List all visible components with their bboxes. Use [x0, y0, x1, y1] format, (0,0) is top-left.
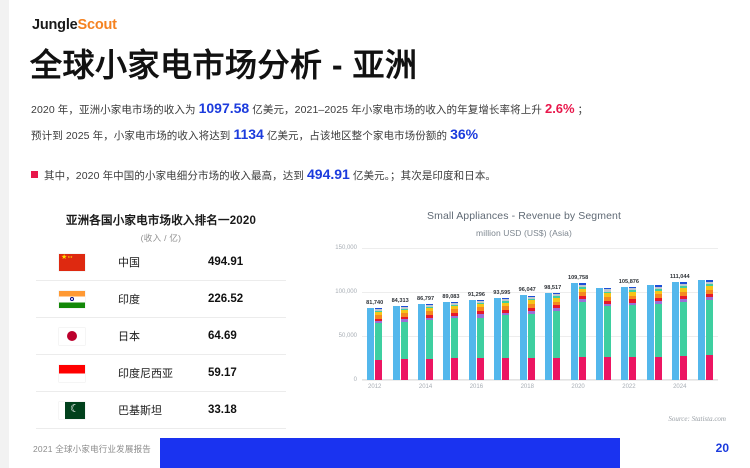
- revenue-chart: Small Appliances - Revenue by Segment mi…: [322, 206, 726, 411]
- summary-line-2-share: 36%: [450, 126, 478, 142]
- chart-bar-segment: [451, 318, 458, 358]
- chart-bar-segment: [579, 357, 586, 380]
- country-revenue: 494.91: [208, 256, 286, 268]
- chart-bar-segment: [553, 311, 560, 358]
- chart-y-tick: 50,000: [339, 333, 357, 339]
- chart-stacked-bar[interactable]: [477, 300, 484, 380]
- ranking-subtitle: (收入 / 亿): [36, 232, 286, 244]
- brand-logo: JungleScout: [32, 17, 117, 33]
- country-name: 巴基斯坦: [108, 402, 208, 418]
- flag-cell: [36, 365, 108, 382]
- footer-bar: [160, 438, 620, 468]
- chart-data-label: 84,313: [392, 298, 409, 304]
- chart-bar-segment: [375, 360, 382, 380]
- chart-bar-group[interactable]: 91,296: [464, 248, 489, 380]
- summary-line-1-cagr: 2.6%: [545, 101, 575, 116]
- chart-title: Small Appliances - Revenue by Segment: [322, 210, 726, 222]
- summary-line-1-text-b: 亿美元，2021–2025 年小家电市场的收入的年复增长率将上升: [252, 104, 542, 116]
- chart-bars: 81,74084,31386,79789,08391,29693,59596,0…: [362, 248, 718, 380]
- chart-data-label: 81,740: [366, 300, 383, 306]
- chart-data-label: 98,517: [544, 285, 561, 291]
- chart-stacked-bar[interactable]: [528, 295, 535, 380]
- chart-x-tick: 2012: [362, 380, 387, 394]
- flag-cell: [36, 254, 108, 271]
- chart-y-tick: 150,000: [335, 245, 357, 251]
- chart-bar-segment: [426, 320, 433, 359]
- table-row: 巴基斯坦 33.18: [36, 392, 286, 429]
- ranking-table: 亚洲各国小家电市场收入排名一2020 (收入 / 亿) 中国 494.91 印度…: [36, 212, 286, 429]
- table-row: 中国 494.91: [36, 244, 286, 281]
- chart-x-tick: 2014: [413, 380, 438, 394]
- chart-total-bar[interactable]: [621, 287, 628, 380]
- summary-line-2-value: 1134: [233, 126, 263, 142]
- chart-data-label: 96,047: [519, 287, 536, 293]
- country-revenue: 64.69: [208, 330, 286, 342]
- chart-y-tick: 0: [354, 377, 357, 383]
- chart-x-tick: [540, 380, 565, 394]
- chart-bar-segment: [401, 322, 408, 359]
- chart-plot-area: 050,000100,000150,00081,74084,31386,7978…: [362, 248, 718, 380]
- chart-x-tick: [438, 380, 463, 394]
- chart-y-tick: 100,000: [335, 289, 357, 295]
- chart-bar-segment: [528, 314, 535, 358]
- chart-x-tick: 2018: [515, 380, 540, 394]
- chart-total-bar[interactable]: [571, 283, 578, 380]
- summary-line-2: 预计到 2025 年，小家电市场的收入将达到 1134 亿美元，占该地区整个家电…: [31, 126, 478, 143]
- flag-cell: [36, 328, 108, 345]
- ranking-title: 亚洲各国小家电市场收入排名一2020: [36, 212, 286, 228]
- chart-bar-segment: [477, 318, 484, 359]
- chart-data-label: 89,083: [442, 294, 459, 300]
- chart-stacked-bar[interactable]: [629, 287, 636, 380]
- chart-bar-group[interactable]: 96,047: [515, 248, 540, 380]
- chart-bar-segment: [655, 357, 662, 380]
- chart-bar-segment: [604, 306, 611, 357]
- chart-x-tick: [489, 380, 514, 394]
- footer-label: 2021 全球小家电行业发展报告: [33, 443, 151, 455]
- chart-total-bar[interactable]: [596, 288, 603, 380]
- chart-bar-group[interactable]: 105,876: [616, 248, 641, 380]
- chart-total-bar[interactable]: [545, 293, 552, 380]
- chart-stacked-bar[interactable]: [655, 285, 662, 380]
- table-row: 日本 64.69: [36, 318, 286, 355]
- chart-subtitle: million USD (US$) (Asia): [322, 228, 726, 238]
- left-edge-strip: [0, 0, 9, 468]
- chart-stacked-bar[interactable]: [579, 283, 586, 380]
- chart-total-bar[interactable]: [672, 282, 679, 380]
- country-name: 中国: [108, 254, 208, 270]
- chart-stacked-bar[interactable]: [375, 308, 382, 380]
- chart-stacked-bar[interactable]: [680, 282, 687, 380]
- chart-bar-group[interactable]: 89,083: [438, 248, 463, 380]
- chart-x-axis: 2012201420162018202020222024: [362, 380, 718, 394]
- chart-bar-group[interactable]: [591, 248, 616, 380]
- chart-x-tick: [387, 380, 412, 394]
- flag-china-icon: [59, 254, 85, 271]
- chart-data-label: 91,296: [468, 292, 485, 298]
- chart-bar-segment: [553, 358, 560, 380]
- chart-total-bar[interactable]: [520, 295, 527, 380]
- chart-bar-group[interactable]: [642, 248, 667, 380]
- chart-x-tick: 2024: [667, 380, 692, 394]
- brand-name-primary: Jungle: [32, 17, 78, 33]
- chart-bar-segment: [375, 323, 382, 360]
- chart-source: Source: Statista.com: [668, 415, 726, 423]
- chart-bar-segment: [579, 302, 586, 357]
- summary-line-3-text-a: 其中，2020 年中国的小家电细分市场的收入最高，达到: [44, 170, 304, 182]
- chart-total-bar[interactable]: [698, 280, 705, 380]
- flag-cell: [36, 402, 108, 419]
- chart-total-bar[interactable]: [469, 300, 476, 380]
- chart-bar-segment: [680, 356, 687, 380]
- chart-bar-segment: [706, 300, 713, 355]
- country-name: 印度: [108, 291, 208, 307]
- slide-root: JungleScout 全球小家电市场分析 - 亚洲 2020 年，亚洲小家电市…: [0, 0, 750, 468]
- chart-data-label: 109,758: [568, 275, 588, 281]
- chart-total-bar[interactable]: [647, 285, 654, 380]
- chart-bar-segment: [680, 302, 687, 356]
- flag-japan-icon: [59, 328, 85, 345]
- country-revenue: 59.17: [208, 367, 286, 379]
- chart-bar-segment: [528, 358, 535, 380]
- page-number: 20: [716, 441, 729, 455]
- flag-cell: [36, 291, 108, 308]
- chart-x-tick: [642, 380, 667, 394]
- chart-stacked-bar[interactable]: [706, 280, 713, 380]
- chart-total-bar[interactable]: [418, 304, 425, 380]
- country-revenue: 33.18: [208, 404, 286, 416]
- chart-x-tick: [692, 380, 717, 394]
- chart-stacked-bar[interactable]: [502, 298, 509, 380]
- page-title: 全球小家电市场分析 - 亚洲: [30, 40, 417, 86]
- chart-bar-group[interactable]: 93,595: [489, 248, 514, 380]
- chart-total-bar[interactable]: [393, 306, 400, 380]
- summary-line-1-value: 1097.58: [199, 100, 250, 116]
- country-revenue: 226.52: [208, 293, 286, 305]
- table-row: 印度 226.52: [36, 281, 286, 318]
- chart-total-bar[interactable]: [367, 308, 374, 380]
- chart-bar-group[interactable]: 81,740: [362, 248, 387, 380]
- chart-bar-group[interactable]: 98,517: [540, 248, 565, 380]
- chart-data-label: 86,797: [417, 296, 434, 302]
- chart-bar-group[interactable]: 109,758: [565, 248, 590, 380]
- chart-bar-segment: [451, 358, 458, 380]
- bullet-square-icon: [31, 171, 38, 178]
- chart-bar-segment: [401, 359, 408, 380]
- chart-x-tick: 2016: [464, 380, 489, 394]
- chart-total-bar[interactable]: [494, 298, 501, 380]
- chart-bar-segment: [477, 358, 484, 380]
- chart-bar-segment: [655, 304, 662, 357]
- chart-stacked-bar[interactable]: [553, 293, 560, 380]
- brand-name-secondary: Scout: [78, 17, 117, 33]
- flag-indonesia-icon: [59, 365, 85, 382]
- chart-data-label: 93,595: [493, 290, 510, 296]
- summary-line-3-value: 494.91: [307, 166, 350, 182]
- chart-x-tick: [591, 380, 616, 394]
- summary-line-2-text-a: 预计到 2025 年，小家电市场的收入将达到: [31, 130, 230, 142]
- chart-bar-group[interactable]: 111,044: [667, 248, 692, 380]
- summary-line-1-text-a: 2020 年，亚洲小家电市场的收入为: [31, 104, 196, 116]
- chart-bar-segment: [604, 357, 611, 380]
- chart-bar-group[interactable]: [692, 248, 717, 380]
- summary-line-1-text-c: ；: [578, 104, 589, 116]
- chart-data-label: 111,044: [670, 274, 690, 280]
- flag-pakistan-icon: [59, 402, 85, 419]
- chart-stacked-bar[interactable]: [451, 302, 458, 380]
- table-row: 印度尼西亚 59.17: [36, 355, 286, 392]
- chart-stacked-bar[interactable]: [401, 306, 408, 380]
- country-name: 印度尼西亚: [108, 365, 208, 381]
- summary-line-1: 2020 年，亚洲小家电市场的收入为 1097.58 亿美元，2021–2025…: [31, 100, 588, 117]
- chart-data-label: 105,876: [619, 279, 639, 285]
- chart-stacked-bar[interactable]: [426, 304, 433, 380]
- summary-line-2-text-b: 亿美元，占该地区整个家电市场份额的: [267, 130, 447, 142]
- chart-bar-segment: [629, 305, 636, 357]
- chart-bar-group[interactable]: 84,313: [387, 248, 412, 380]
- chart-bar-segment: [629, 357, 636, 380]
- chart-stacked-bar[interactable]: [604, 288, 611, 380]
- chart-bar-group[interactable]: 86,797: [413, 248, 438, 380]
- chart-bar-segment: [502, 358, 509, 380]
- chart-x-tick: 2022: [616, 380, 641, 394]
- chart-total-bar[interactable]: [443, 302, 450, 380]
- summary-line-3-text-b: 亿美元。；其次是印度和日本。: [353, 170, 496, 182]
- summary-line-3: 其中，2020 年中国的小家电细分市场的收入最高，达到 494.91 亿美元。；…: [31, 166, 496, 183]
- chart-bar-segment: [502, 315, 509, 358]
- flag-india-icon: [59, 291, 85, 308]
- chart-bar-segment: [706, 355, 713, 380]
- chart-bar-segment: [426, 359, 433, 380]
- country-name: 日本: [108, 328, 208, 344]
- chart-x-tick: 2020: [565, 380, 590, 394]
